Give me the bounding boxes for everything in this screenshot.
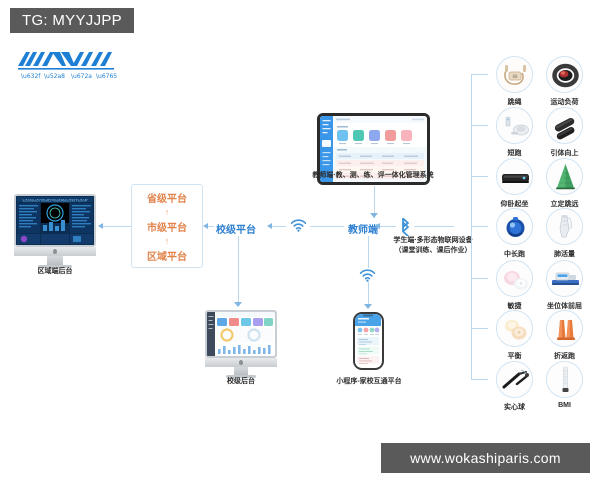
regional-monitor-screen: \u533a\u57df\u6570\u636e\u5927\u5c4f xyxy=(14,194,96,247)
regional-dashboard-graphic: \u533a\u57df\u6570\u636e\u5927\u5c4f xyxy=(16,196,94,245)
iot-label-sport-load: 运动负荷 xyxy=(546,97,583,107)
tree-branch-4 xyxy=(471,226,488,227)
label-student-terminal-line1: 学生端·多形态物联网设备 xyxy=(383,236,483,245)
svg-text:\u672a: \u672a xyxy=(71,73,92,80)
platform-item-municipal: 市级平台 xyxy=(147,219,187,234)
iot-label-balance: 平衡 xyxy=(496,351,533,361)
arrow-left-icon-bluetooth xyxy=(375,223,380,229)
connector-bluetooth-right xyxy=(414,226,454,227)
arrow-down-icon-school-backend xyxy=(234,302,242,307)
iot-icon-agility-disc xyxy=(496,260,533,297)
tree-branch-2 xyxy=(471,125,488,126)
logo-mark-icon: \u632f \u52a8 \u672a \u6765 xyxy=(16,50,120,82)
regional-monitor-chin xyxy=(14,247,96,256)
iot-icon-balance-pad xyxy=(496,310,533,347)
platform-arrow-up-2: ↑ xyxy=(165,237,170,246)
iot-icon-sport-load-band xyxy=(546,56,583,93)
device-regional-backend: \u533a\u57df\u6570\u636e\u5927\u5c4f xyxy=(14,194,96,268)
iot-label-distance-run: 中长跑 xyxy=(496,249,533,259)
platform-item-regional: 区域平台 xyxy=(147,248,187,263)
iot-label-pull-up: 引体向上 xyxy=(546,148,583,158)
tree-branch-7 xyxy=(471,379,488,380)
platform-hierarchy-box: 省级平台 ↑ 市级平台 ↑ 区域平台 xyxy=(131,184,203,268)
platform-item-provincial: 省级平台 xyxy=(147,190,187,205)
svg-text:\u533a\u57df\u6570\u636e\u5927: \u533a\u57df\u6570\u636e\u5927\u5c4f xyxy=(22,198,88,202)
svg-text:\u6765: \u6765 xyxy=(96,73,117,80)
iot-label-lung-capacity: 肺活量 xyxy=(546,249,583,259)
tree-branch-3 xyxy=(471,176,488,177)
connector-platform-to-regional xyxy=(101,226,131,227)
arrow-down-icon-teacher xyxy=(370,213,378,218)
svg-text:88: 88 xyxy=(512,74,518,79)
regional-monitor-stand xyxy=(47,256,63,265)
miniprogram-graphic xyxy=(355,314,381,367)
iot-icon-lung-capacity xyxy=(546,208,583,245)
school-monitor-screen xyxy=(205,310,277,358)
iot-icon-medicine-ball xyxy=(496,361,533,398)
label-student-terminal-line2: （课堂训练、课后作业） xyxy=(383,246,483,255)
device-miniprogram-phone xyxy=(353,312,384,370)
connector-school-down xyxy=(238,236,239,306)
connector-wifi-left xyxy=(270,226,286,227)
svg-text:\u52a8: \u52a8 xyxy=(44,73,65,80)
school-monitor-chin xyxy=(205,358,277,367)
connector-teacher-down xyxy=(368,236,369,268)
iot-icon-sprint-sensor xyxy=(496,107,533,144)
iot-icon-shuttle-run-cone xyxy=(546,310,583,347)
iot-label-sprint: 短跑 xyxy=(496,148,533,158)
connector-wifi-right xyxy=(310,226,344,227)
device-school-backend xyxy=(205,310,277,378)
phone-screen xyxy=(353,312,384,370)
tree-branch-5 xyxy=(471,278,488,279)
iot-label-bmi: BMI xyxy=(546,402,583,409)
iot-label-shuttle-run: 折返跑 xyxy=(546,351,583,361)
node-teacher-terminal: 教师端 xyxy=(348,221,378,236)
caption-school-backend: 校级后台 xyxy=(205,376,277,386)
caption-miniprogram: 小程序-家校互通平台 xyxy=(325,376,413,386)
watermark-bottom: www.wokashiparis.com xyxy=(381,443,590,473)
arrow-left-icon-platform xyxy=(203,223,208,229)
watermark-top: TG: MYYJJPP xyxy=(10,8,134,33)
iot-icon-long-jump-mat xyxy=(546,158,583,195)
arrow-left-icon-regional xyxy=(98,223,103,229)
iot-icon-sit-and-reach xyxy=(546,260,583,297)
wifi-icon-teacher-school xyxy=(290,218,307,237)
tree-branch-1 xyxy=(471,74,488,75)
brand-logo: \u632f \u52a8 \u672a \u6765 xyxy=(16,50,120,82)
connector-bluetooth-left xyxy=(378,226,396,227)
svg-text:\u632f: \u632f xyxy=(21,73,41,80)
platform-arrow-up-1: ↑ xyxy=(165,208,170,217)
iot-icon-pull-up-sensor xyxy=(546,107,583,144)
iot-label-jump-rope: 跳绳 xyxy=(496,97,533,107)
iot-icon-sit-up-sensor xyxy=(496,158,533,195)
iot-icon-jump-rope: 88 xyxy=(496,56,533,93)
school-dashboard-graphic xyxy=(207,312,275,356)
arrow-left-icon-school xyxy=(267,223,272,229)
node-school-platform: 校级平台 xyxy=(216,221,256,236)
caption-regional-backend: 区域端后台 xyxy=(14,266,96,276)
iot-label-medicine-ball: 实心球 xyxy=(496,402,533,412)
caption-teacher-tablet: 教师端·教、测、练、评一体化管理系统 xyxy=(298,170,448,180)
iot-icon-distance-run-chip xyxy=(496,208,533,245)
iot-icon-bmi-scale xyxy=(546,361,583,398)
arrow-down-icon-phone xyxy=(364,304,372,309)
school-monitor-stand xyxy=(234,367,248,375)
tree-branch-6 xyxy=(471,328,488,329)
diagram-canvas: TG: MYYJJPP www.wokashiparis.com \u632f … xyxy=(0,0,600,480)
